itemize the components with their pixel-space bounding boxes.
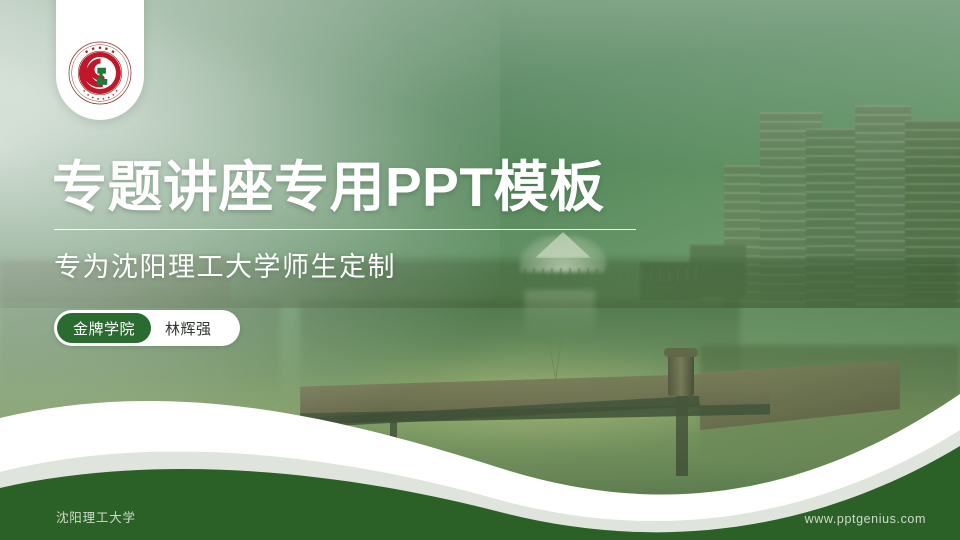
page-subtitle: 专为沈阳理工大学师生定制 bbox=[54, 245, 396, 284]
badge-tag-label: 金牌学院 bbox=[57, 313, 151, 343]
top-light-veil bbox=[0, 0, 960, 170]
footer-university-name: 沈阳理工大学 bbox=[56, 507, 136, 526]
page-title: 专题讲座专用PPT模板 bbox=[52, 158, 604, 217]
svg-text:1948: 1948 bbox=[96, 88, 106, 93]
logo-tab: 1948 bbox=[56, 0, 144, 120]
presentation-slide: 1948 专题讲座专用PPT模板 专为沈阳理工大学师生定制 金牌学院 林辉强 沈… bbox=[0, 0, 960, 540]
university-crest-icon: 1948 bbox=[67, 40, 133, 106]
footer-website-url[interactable]: www.pptgenius.com bbox=[805, 512, 926, 526]
badge-presenter-name: 林辉强 bbox=[151, 318, 230, 339]
status-badge: 金牌学院 林辉强 bbox=[54, 310, 240, 346]
title-divider bbox=[54, 229, 636, 230]
